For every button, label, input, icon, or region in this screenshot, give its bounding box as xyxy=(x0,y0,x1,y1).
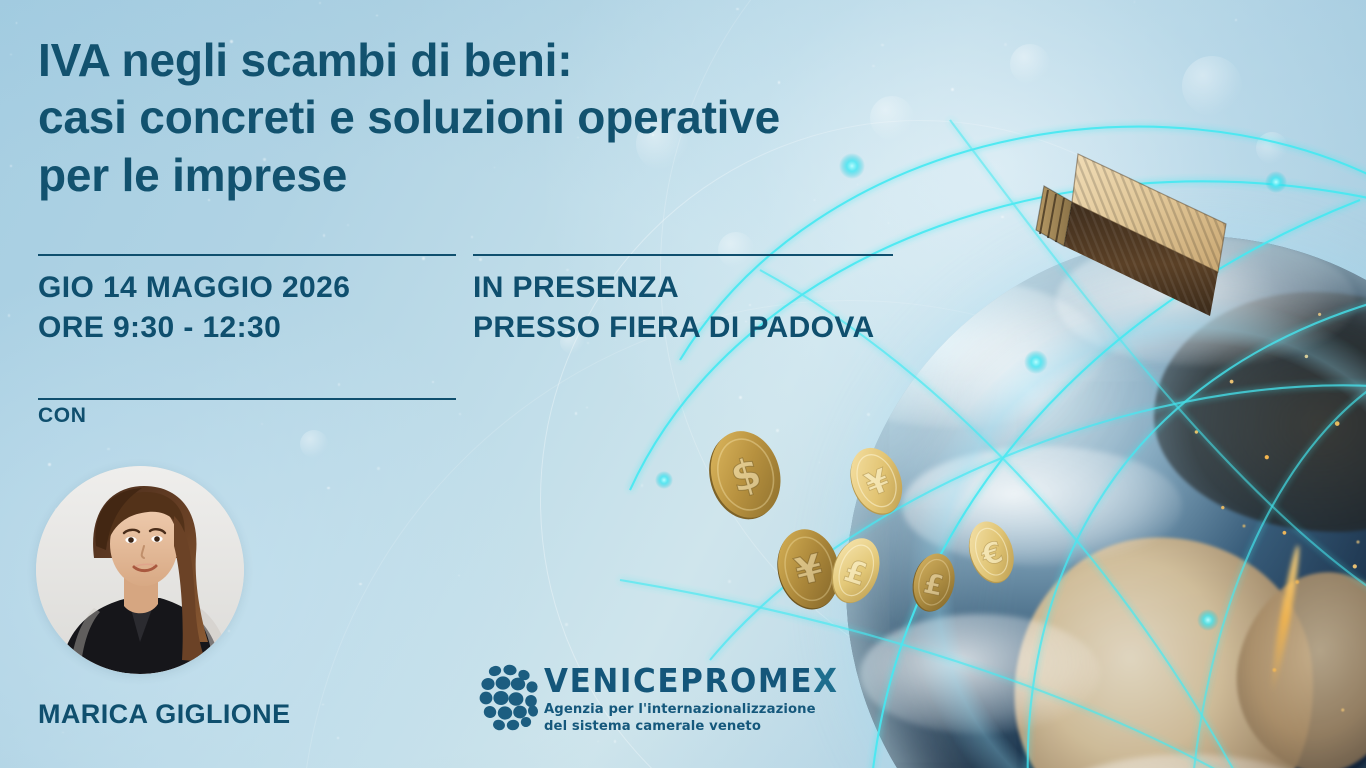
event-mode: IN PRESENZA xyxy=(473,268,875,308)
speaker-avatar xyxy=(36,466,244,674)
event-date: GIO 14 MAGGIO 2026 xyxy=(38,268,350,308)
event-venue: PRESSO FIERA DI PADOVA xyxy=(473,308,875,348)
speaker-portrait-icon xyxy=(36,466,244,674)
logo-tagline: Agenzia per l'internazionalizzazione del… xyxy=(544,702,839,735)
page-title: IVA negli scambi di beni: casi concreti … xyxy=(38,32,958,204)
venicepromex-logo[interactable]: VENICEPROMEX Agenzia per l'internazional… xyxy=(478,660,778,742)
title-line-1: IVA negli scambi di beni: xyxy=(38,32,958,89)
event-datetime: GIO 14 MAGGIO 2026 ORE 9:30 - 12:30 xyxy=(38,268,350,348)
speaker-with-label: CON xyxy=(38,404,86,428)
title-line-3: per le imprese xyxy=(38,147,958,204)
event-poster: $ ¥ ¥ xyxy=(0,0,1366,768)
event-time: ORE 9:30 - 12:30 xyxy=(38,308,350,348)
hexagonal-globe-logo-icon xyxy=(478,662,546,734)
logo-word-accent: X xyxy=(813,663,839,701)
divider-speaker xyxy=(38,398,456,400)
divider-venue xyxy=(473,254,893,256)
logo-tagline-line-1: Agenzia per l'internazionalizzazione xyxy=(544,702,839,719)
speaker-name: MARICA GIGLIONE xyxy=(38,699,291,730)
title-line-2: casi concreti e soluzioni operative xyxy=(38,89,958,146)
event-location: IN PRESENZA PRESSO FIERA DI PADOVA xyxy=(473,268,875,348)
logo-wordmark: VENICEPROMEX xyxy=(544,666,839,699)
logo-word-main: VENICEPROME xyxy=(544,663,813,701)
logo-tagline-line-2: del sistema camerale veneto xyxy=(544,719,839,736)
divider-date xyxy=(38,254,456,256)
